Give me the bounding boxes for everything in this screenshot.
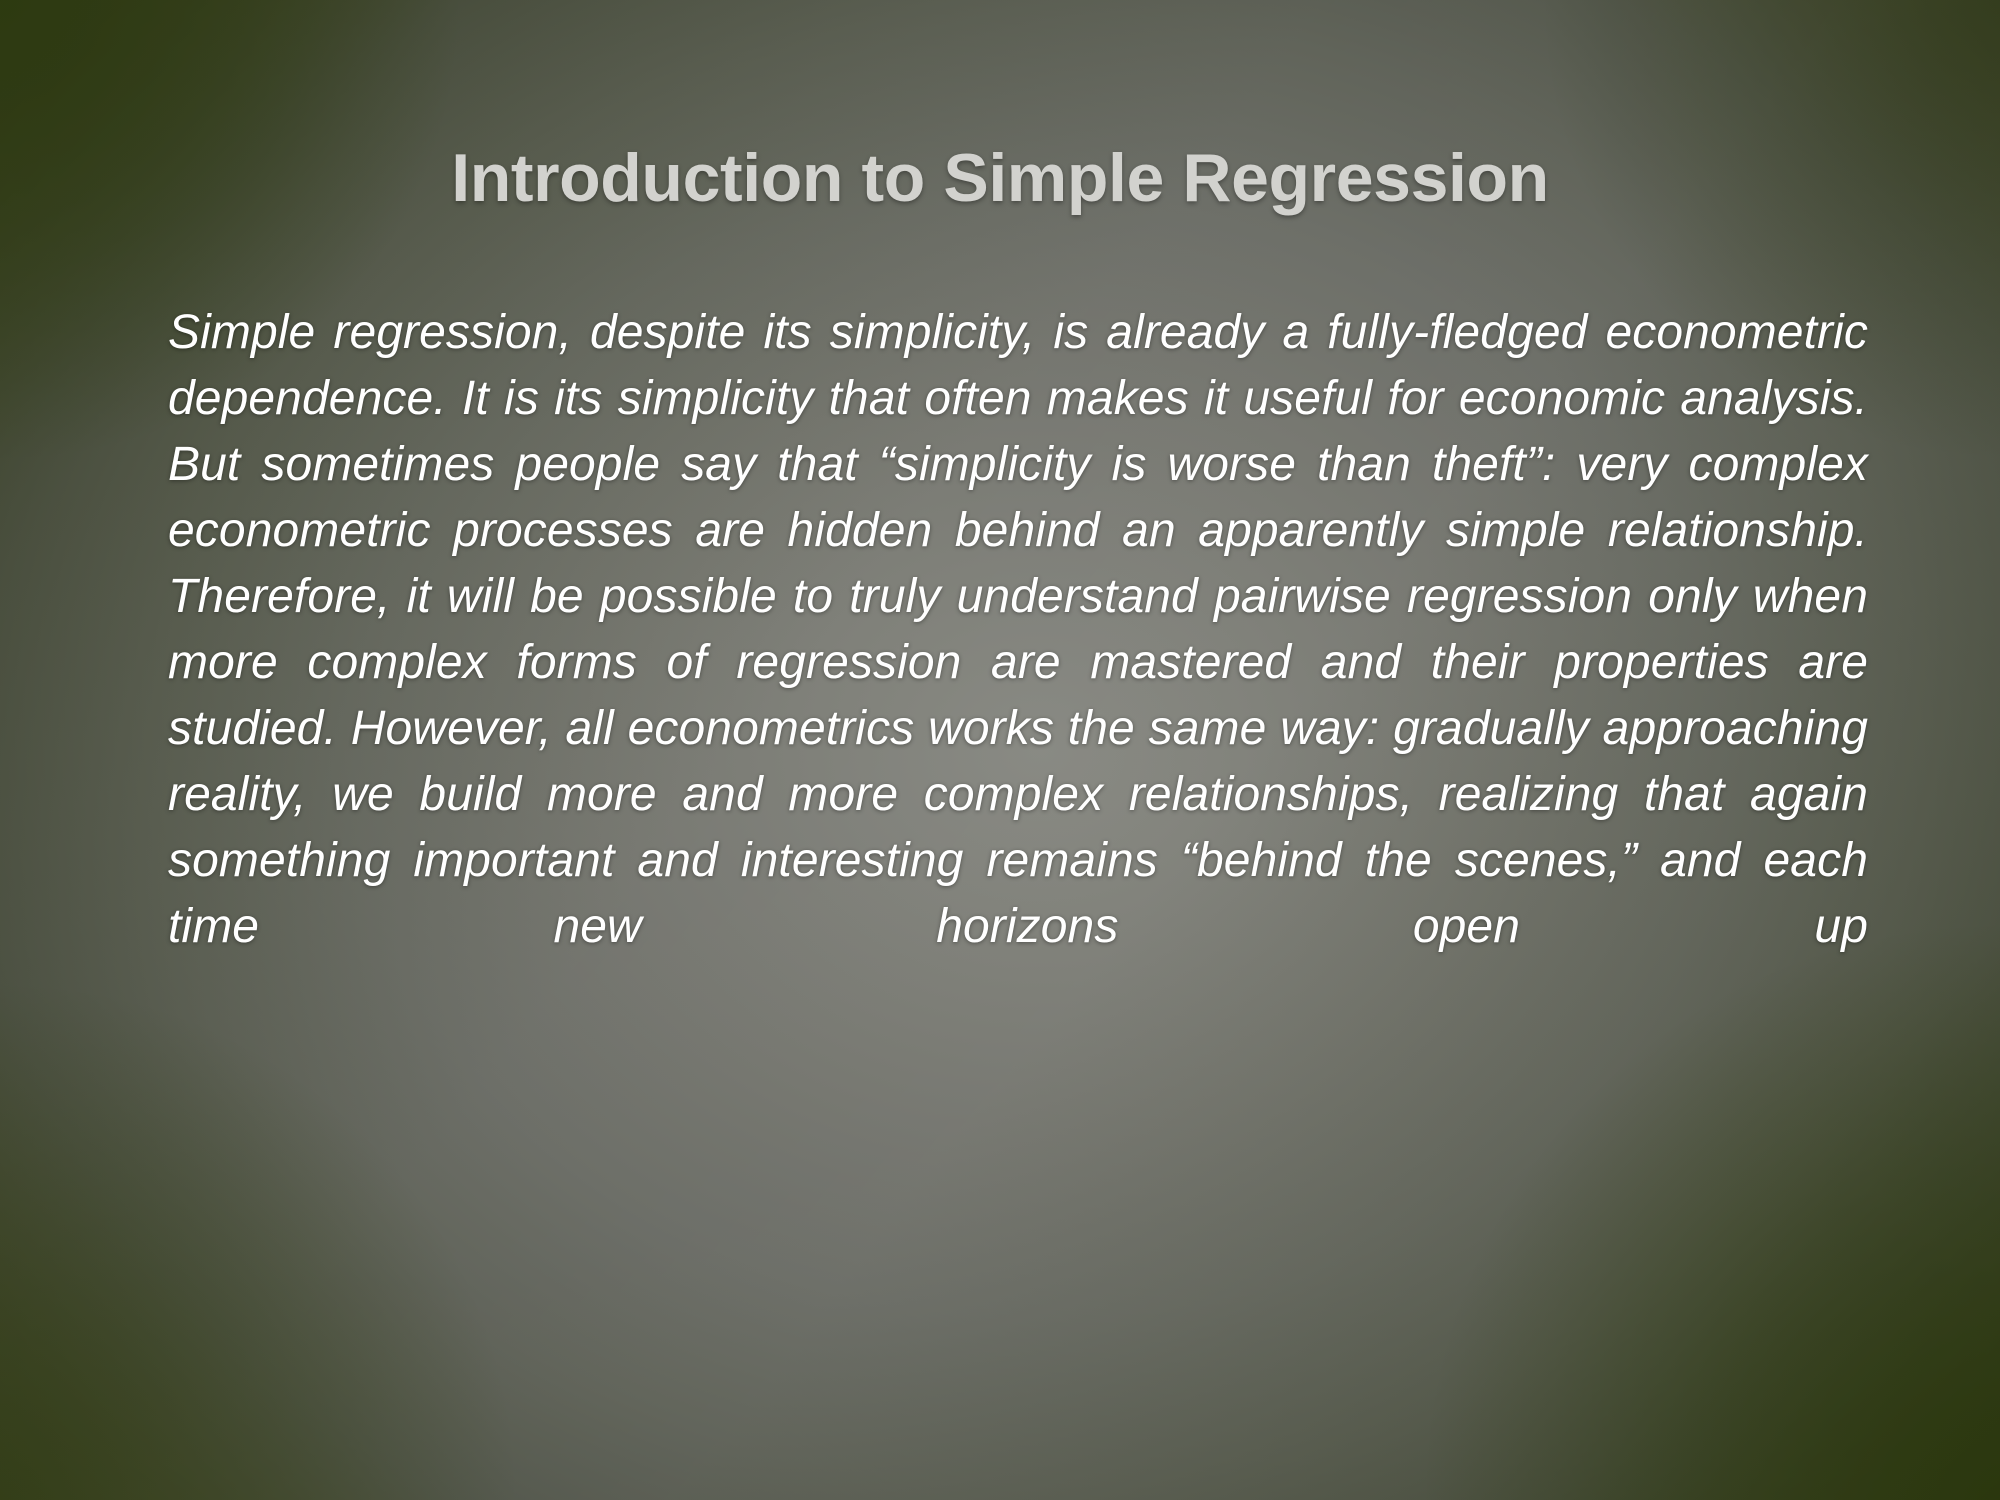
presentation-slide: Introduction to Simple Regression Simple… <box>0 0 2000 1500</box>
slide-body-textbox: Simple regression, despite its simplicit… <box>168 300 1868 1026</box>
slide-title: Introduction to Simple Regression <box>0 142 2000 215</box>
slide-body-paragraph: Simple regression, despite its simplicit… <box>168 300 1868 1026</box>
slide-content: Introduction to Simple Regression Simple… <box>0 0 2000 1500</box>
